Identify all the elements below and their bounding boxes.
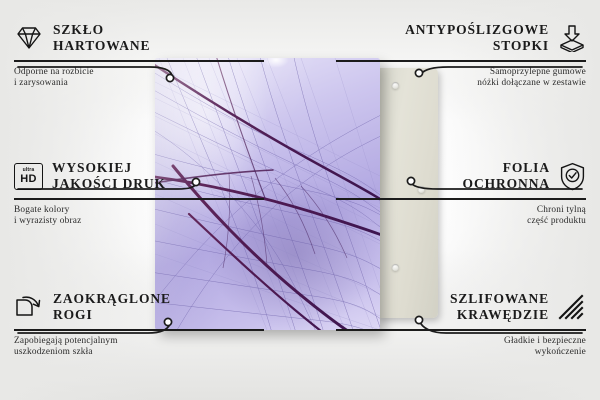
feature-szlifowane-krawedzie: SZLIFOWANE KRAWĘDZIE Gładkie i bezpieczn…	[336, 291, 586, 359]
feature-title-line2: KRAWĘDZIE	[450, 307, 549, 323]
feature-desc-line2: i wyrazisty obraz	[14, 216, 264, 228]
feature-heading: FOLIA OCHRONNA	[336, 160, 586, 192]
feature-desc-line1: Bogate kolory	[14, 205, 264, 217]
feature-desc-line1: Gładkie i bezpieczne	[336, 336, 586, 348]
infographic-canvas: SZKŁO HARTOWANE Odporne na rozbicie i za…	[0, 0, 600, 400]
feature-divider	[14, 329, 264, 331]
feature-divider	[336, 329, 586, 331]
feature-heading: SZKŁO HARTOWANE	[14, 22, 264, 54]
feature-antyposlizgowe-stopki: ANTYPOŚLIZGOWE STOPKI Samoprzylepne gumo…	[336, 22, 586, 90]
feature-title-line2: ROGI	[53, 307, 171, 323]
feature-desc-line1: Chroni tylną	[336, 205, 586, 217]
feature-zaokraglone-rogi: ZAOKRĄGLONE ROGI Zapobiegają potencjalny…	[14, 291, 264, 359]
feature-desc-line2: część produktu	[336, 216, 586, 228]
rounded-corner-icon	[14, 293, 44, 321]
feature-desc-line1: Samoprzylepne gumowe	[336, 67, 586, 79]
feature-title-line1: SZLIFOWANE	[450, 291, 549, 307]
feature-title-line1: SZKŁO	[53, 22, 150, 38]
feature-title-line1: WYSOKIEJ	[52, 160, 166, 176]
feature-title-line2: HARTOWANE	[53, 38, 150, 54]
diagonal-hatch-icon	[558, 294, 586, 320]
feature-desc-line2: i zarysowania	[14, 78, 264, 90]
feature-title-line1: FOLIA	[463, 160, 550, 176]
feature-desc-line2: nóżki dołączane w zestawie	[336, 78, 586, 90]
feature-heading: SZLIFOWANE KRAWĘDZIE	[336, 291, 586, 323]
feature-divider	[14, 60, 264, 62]
feature-desc-line1: Odporne na rozbicie	[14, 67, 264, 79]
feature-title-line2: JAKOŚCI DRUK	[52, 176, 166, 192]
feature-desc-line1: Zapobiegają potencjalnym	[14, 336, 264, 348]
shield-check-icon	[559, 162, 586, 191]
feature-title-line1: ZAOKRĄGLONE	[53, 291, 171, 307]
feature-heading: ultra HD WYSOKIEJ JAKOŚCI DRUK	[14, 160, 264, 192]
ultra-hd-large-text: HD	[20, 174, 37, 185]
feature-desc-line2: uszkodzeniom szkła	[14, 347, 264, 359]
feature-heading: ANTYPOŚLIZGOWE STOPKI	[336, 22, 586, 54]
press-down-pad-icon	[558, 24, 586, 52]
feature-wysokiej-jakosci-druk: ultra HD WYSOKIEJ JAKOŚCI DRUK Bogate ko…	[14, 160, 264, 228]
ultra-hd-badge-icon: ultra HD	[14, 163, 43, 190]
feature-divider	[14, 198, 264, 200]
feature-divider	[336, 198, 586, 200]
feature-szklo-hartowane: SZKŁO HARTOWANE Odporne na rozbicie i za…	[14, 22, 264, 90]
feature-heading: ZAOKRĄGLONE ROGI	[14, 291, 264, 323]
diamond-icon	[14, 25, 44, 51]
ultra-hd-small-text: ultra	[23, 168, 35, 173]
feature-folia-ochronna: FOLIA OCHRONNA Chroni tylną część produk…	[336, 160, 586, 228]
feature-title-line1: ANTYPOŚLIZGOWE	[405, 22, 549, 38]
feature-title-line2: STOPKI	[405, 38, 549, 54]
feature-divider	[336, 60, 586, 62]
feature-desc-line2: wykończenie	[336, 347, 586, 359]
feature-title-line2: OCHRONNA	[463, 176, 550, 192]
